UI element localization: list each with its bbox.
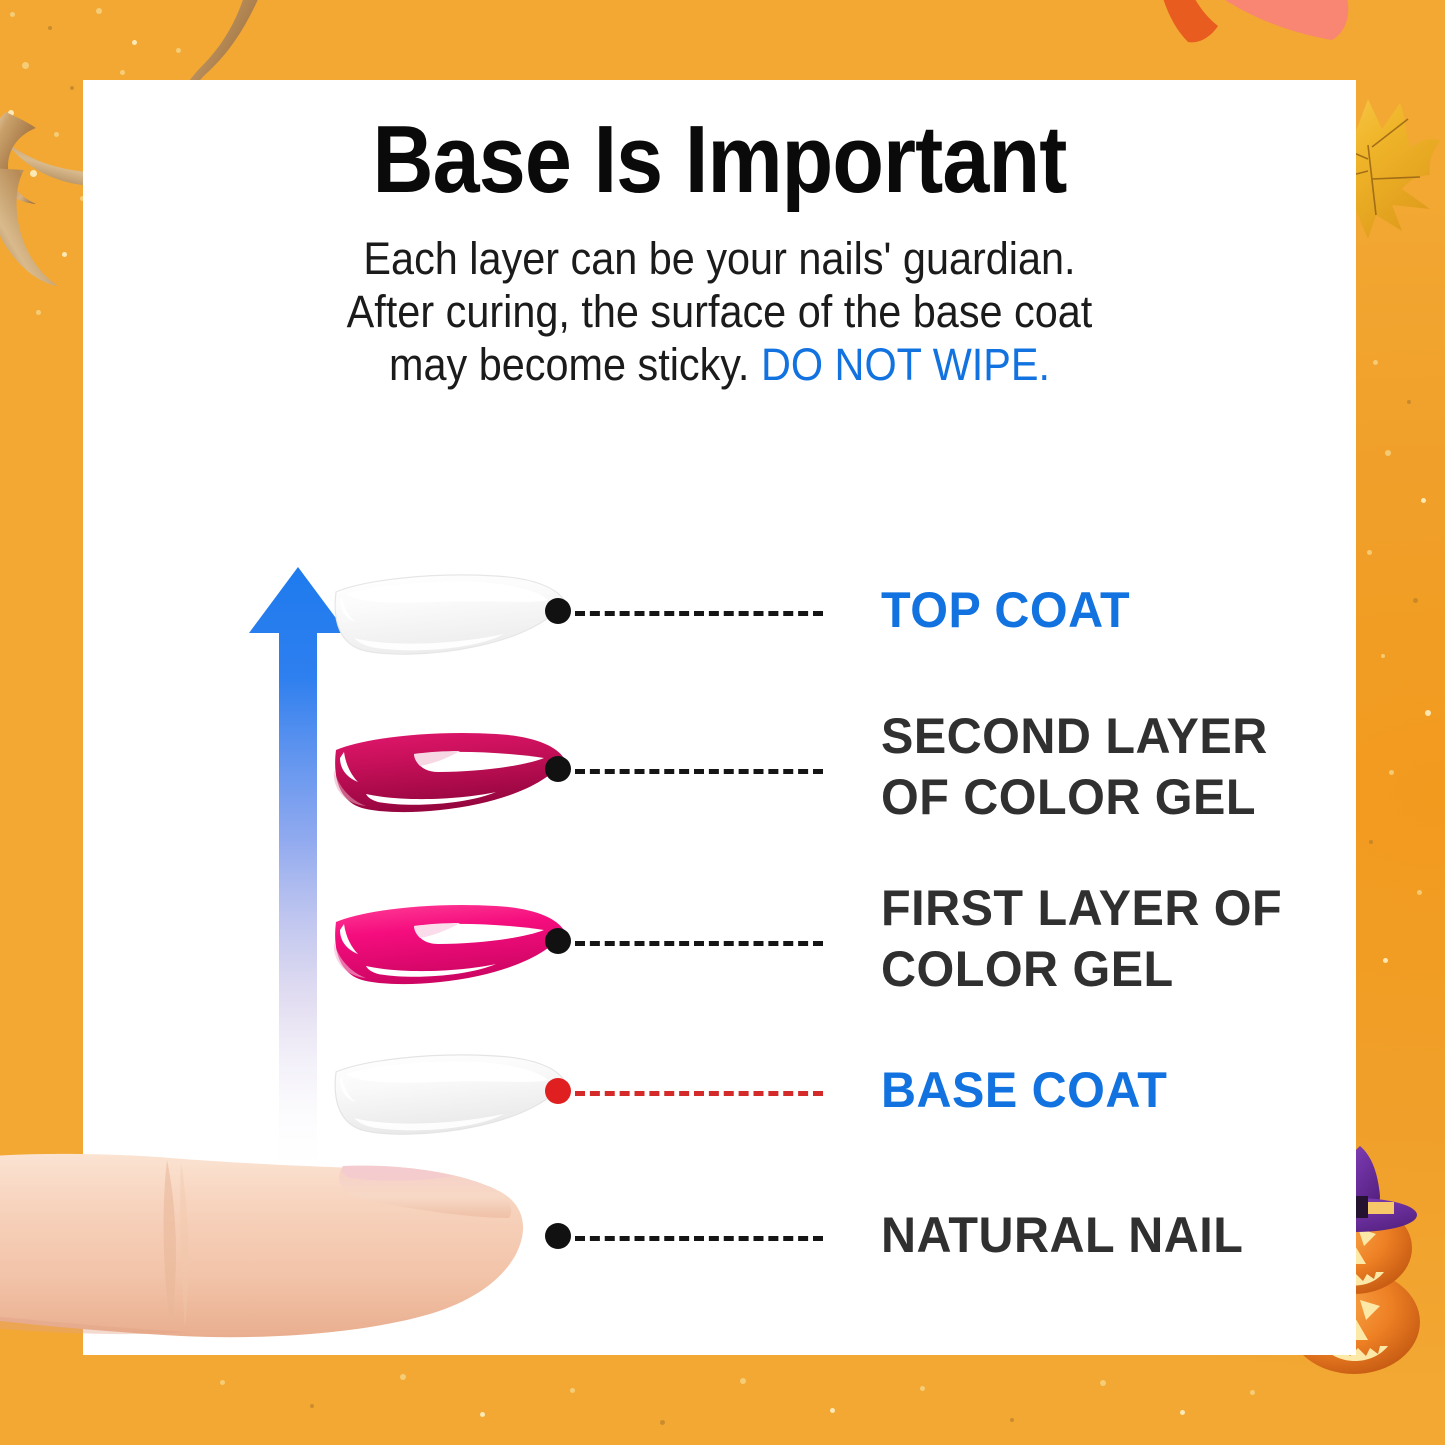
layer-label-top-coat: TOP COAT bbox=[881, 580, 1130, 641]
layer-label-base-coat: BASE COAT bbox=[881, 1060, 1167, 1121]
poster-canvas: Base Is Important Each layer can be your… bbox=[0, 0, 1445, 1445]
connector-line-first-layer bbox=[575, 941, 823, 946]
glitter-specks-bottom bbox=[180, 1360, 1280, 1445]
connector-dot-second-layer bbox=[545, 756, 571, 782]
deep-pink-nail-second-layer bbox=[328, 728, 568, 820]
connector-dot-first-layer bbox=[545, 928, 571, 954]
finger-with-natural-nail-photo bbox=[0, 1130, 631, 1370]
clear-glossy-nail-top-coat bbox=[328, 570, 568, 662]
connector-dot-top-coat bbox=[545, 598, 571, 624]
connector-line-base-coat bbox=[575, 1091, 823, 1096]
layer-label-natural-nail: NATURAL NAIL bbox=[881, 1205, 1243, 1266]
layer-label-first-layer: FIRST LAYER OF COLOR GEL bbox=[881, 878, 1282, 1000]
connector-line-second-layer bbox=[575, 769, 823, 774]
connector-line-top-coat bbox=[575, 611, 823, 616]
bright-pink-nail-first-layer bbox=[328, 900, 568, 992]
layer-label-second-layer: SECOND LAYER OF COLOR GEL bbox=[881, 706, 1268, 828]
clear-glossy-nail-base-coat bbox=[328, 1050, 568, 1142]
glitter-specks-right bbox=[1355, 330, 1445, 1030]
connector-dot-base-coat bbox=[545, 1078, 571, 1104]
layer-diagram: TOP COAT bbox=[83, 80, 1356, 1355]
content-card: Base Is Important Each layer can be your… bbox=[83, 80, 1356, 1355]
